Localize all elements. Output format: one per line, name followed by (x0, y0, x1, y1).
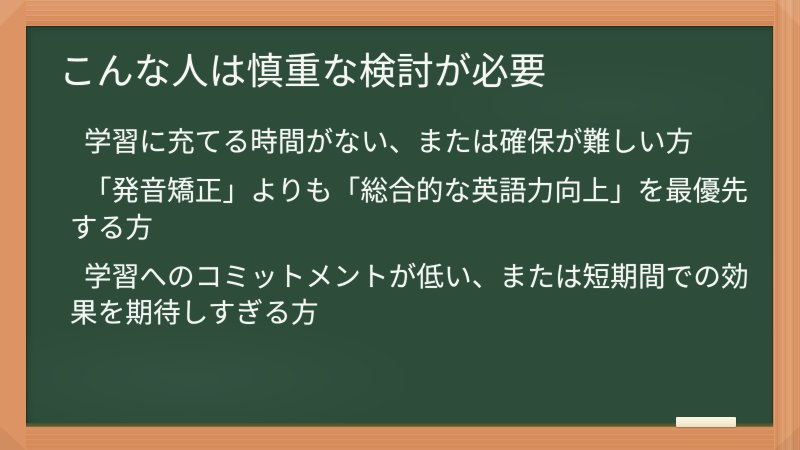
chalk-stick-icon (676, 417, 736, 427)
wooden-frame-top-rail (0, 0, 800, 26)
wooden-frame-left-rail (0, 0, 26, 450)
blackboard-slide: こんな人は慎重な検討が必要 学習に充てる時間がない、または確保が難しい方 「発音… (0, 0, 800, 450)
slide-title: こんな人は慎重な検討が必要 (59, 50, 547, 94)
bullet-item-1: 学習に充てる時間がない、または確保が難しい方 (70, 124, 770, 161)
bullet-list: 学習に充てる時間がない、または確保が難しい方 「発音矯正」よりも「総合的な英語力… (70, 124, 770, 332)
wooden-frame-bottom-rail (0, 426, 800, 450)
wooden-frame-right-rail (774, 0, 800, 450)
bullet-item-2: 「発音矯正」よりも「総合的な英語力向上」を最優先する方 (70, 173, 770, 247)
board-bottom-lip (26, 423, 773, 427)
bullet-item-3: 学習へのコミットメントが低い、または短期間での効果を期待しすぎる方 (70, 259, 770, 333)
chalkboard-surface: こんな人は慎重な検討が必要 学習に充てる時間がない、または確保が難しい方 「発音… (26, 26, 773, 426)
